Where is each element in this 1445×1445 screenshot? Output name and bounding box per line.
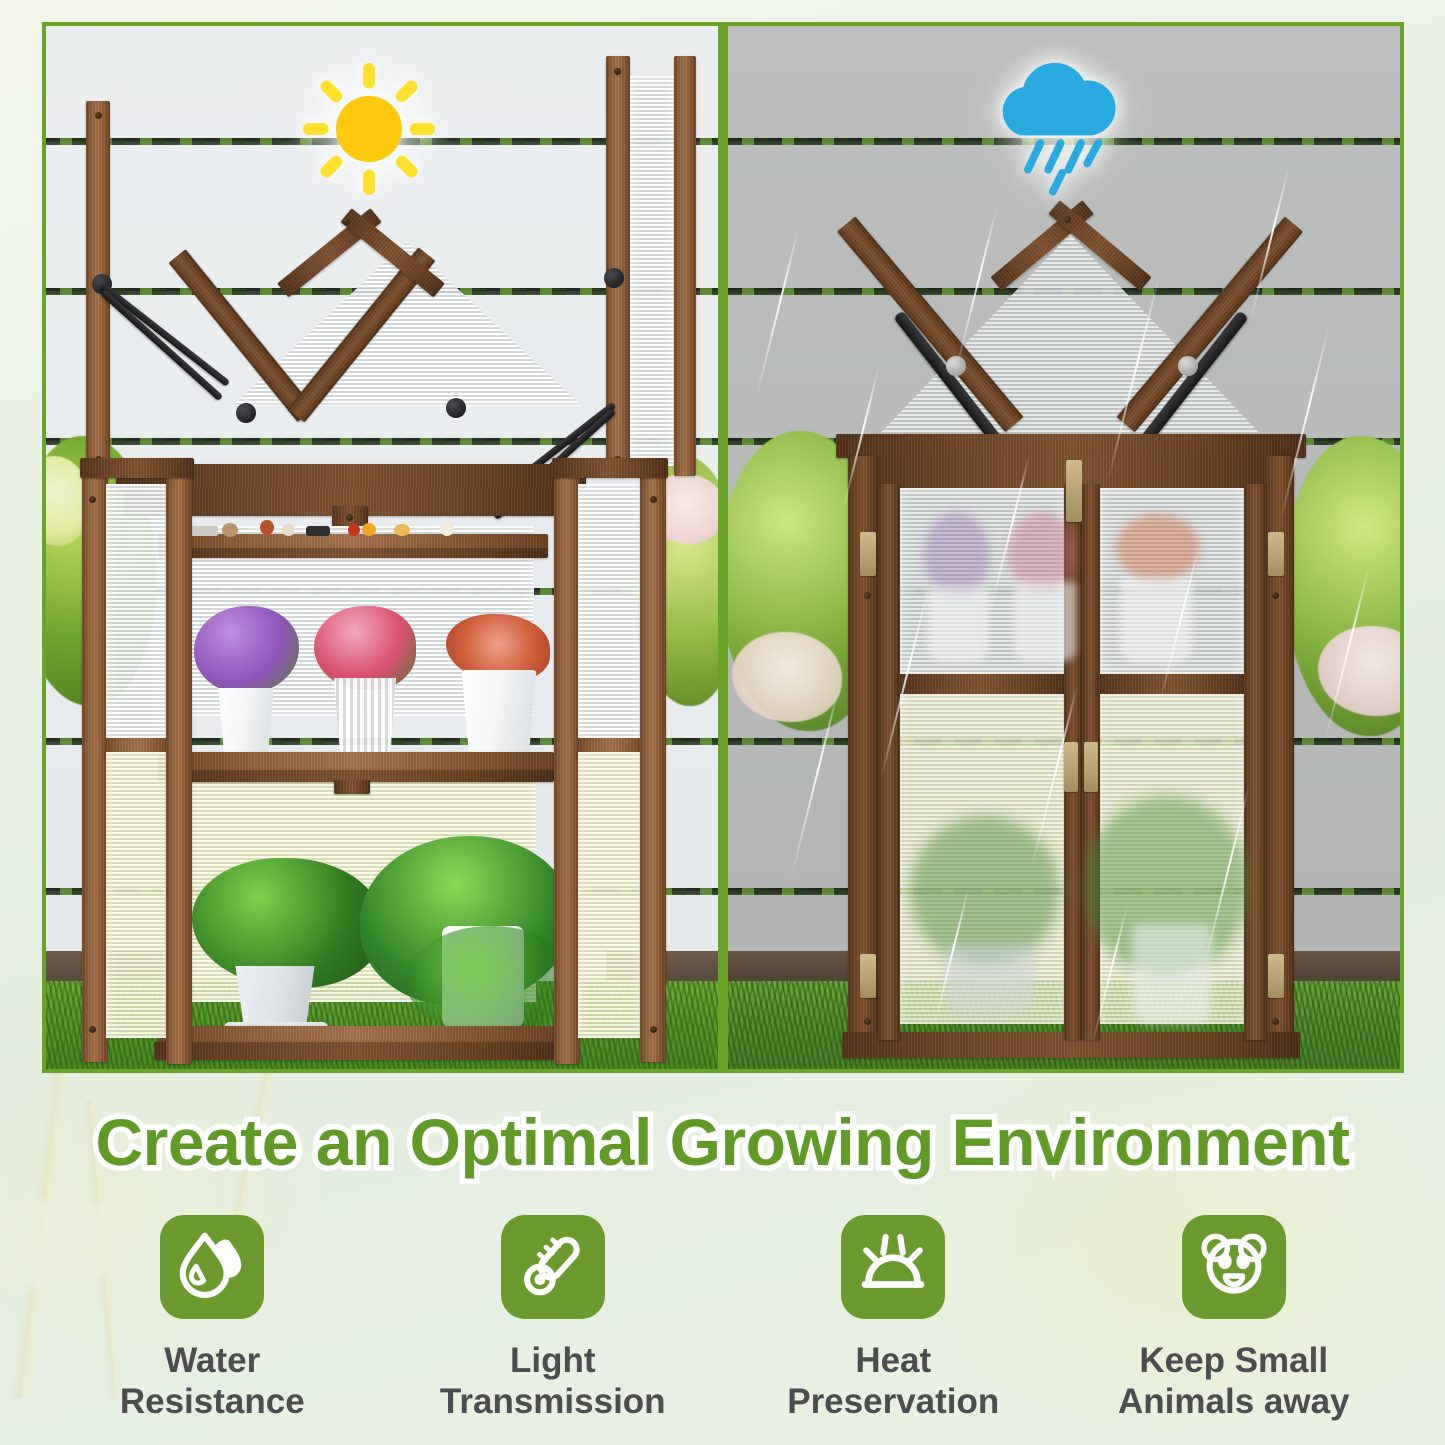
comparison-photo: [42, 22, 1404, 1073]
rain-silhouette-pot-a: [928, 586, 988, 662]
shelf-item-2: [222, 523, 238, 537]
rain-silhouette-succulent: [1116, 514, 1200, 582]
door-right-screw-top: [650, 496, 657, 503]
top-shelf-edge: [158, 548, 548, 558]
rain-door-left-mid-rail: [896, 674, 1068, 694]
door-left-glazing-upper: [106, 484, 168, 742]
feature-heat-preservation: Heat Preservation: [723, 1215, 1064, 1422]
shelf-item-9: [440, 522, 454, 536]
rain-cloud-icon: [978, 48, 1134, 204]
rain-screw-right-upper: [1272, 592, 1279, 599]
door-right-glazing-lower: [578, 752, 642, 1038]
pothos-trailing-vine: [406, 926, 576, 1036]
middle-shelf-bracket: [334, 780, 370, 794]
shelf-item-4: [282, 524, 295, 536]
water-drop-icon-tile: [160, 1215, 264, 1319]
door-left-glazing-lower: [106, 752, 168, 1038]
upper-sash-right-outer-stile: [674, 56, 696, 476]
thermometer-icon-tile: [501, 1215, 605, 1319]
door-right-top-rail: [552, 458, 668, 478]
upper-sash-right-glazing: [630, 76, 676, 466]
rain-silhouette-pot-e: [1132, 924, 1212, 1022]
bear-face-icon: [1195, 1226, 1273, 1309]
product-infographic: Create an Optimal Growing Environment Wa…: [0, 0, 1445, 1445]
rain-door-handle-right: [1084, 742, 1098, 792]
feature-label: Heat Preservation: [787, 1341, 999, 1422]
pot-succulent: [460, 670, 538, 758]
sunrise-icon-tile: [841, 1215, 945, 1319]
middle-shelf: [158, 752, 554, 772]
door-left-screw-bottom: [89, 1026, 96, 1033]
panel-rainy-closed: [728, 26, 1400, 1069]
pink-flower-foliage: [314, 606, 416, 690]
door-right-outer-stile: [640, 466, 666, 1062]
shelf-item-6: [348, 524, 360, 536]
shelf-item-5: [306, 526, 330, 536]
door-right-screw-bottom: [650, 1026, 657, 1033]
shelf-item-8: [394, 524, 410, 536]
bottom-base-rail: [154, 1042, 562, 1060]
rain-screw-left-lower: [864, 1018, 871, 1025]
rain-hinge-right-top: [1268, 532, 1284, 576]
door-left-inner-stile: [166, 458, 192, 1064]
feature-light-transmission: Light Transmission: [383, 1215, 724, 1422]
pot-pothos-left: [232, 966, 318, 1028]
shelf-item-3: [260, 520, 274, 535]
pot-pink-flowers: [332, 678, 398, 760]
arm-left-knob-bottom: [236, 403, 256, 423]
rain-silhouette-pot-d: [946, 944, 1034, 1014]
rain-roof-apex-screw: [1064, 216, 1071, 223]
rain-door-right-mid-rail: [1096, 674, 1248, 694]
feature-label: Keep Small Animals away: [1118, 1341, 1350, 1422]
rain-screw-left-upper: [864, 592, 871, 599]
arm-right-knob-bottom: [446, 398, 466, 418]
door-right-glazing-upper: [578, 484, 642, 742]
shelf-item-1: [188, 526, 218, 536]
water-drop-icon: [173, 1226, 251, 1309]
feature-list: Water Resistance: [42, 1215, 1404, 1422]
upper-sash-left-screw-top: [95, 112, 102, 119]
shelf-item-7: [362, 523, 376, 536]
arm-right-knob-top: [604, 268, 624, 288]
feature-label: Light Transmission: [440, 1341, 666, 1422]
page-title: Create an Optimal Growing Environment: [0, 1104, 1445, 1180]
rain-silhouette-pot-b: [1014, 582, 1076, 662]
door-left-outer-stile: [82, 466, 108, 1062]
rain-hinge-right-bottom: [1268, 954, 1284, 998]
door-left-screw-top: [89, 496, 96, 503]
door-left-top-rail: [80, 458, 194, 478]
rain-door-right-stile: [1244, 484, 1266, 1040]
pot-purple-flowers: [216, 688, 276, 760]
rain-hinge-left-bottom: [860, 954, 876, 998]
roof-apex-screw: [343, 218, 350, 225]
sunrise-icon: [854, 1226, 932, 1309]
rain-arm-right-knob: [1178, 356, 1198, 376]
latch-screw: [346, 514, 353, 521]
rain-eave-rail: [836, 434, 1306, 458]
rain-door-handle-left: [1064, 742, 1078, 792]
bear-face-icon-tile: [1182, 1215, 1286, 1319]
feature-keep-animals-away: Keep Small Animals away: [1064, 1215, 1405, 1422]
rain-door-left-stile: [878, 484, 900, 1040]
thermometer-icon: [514, 1226, 592, 1309]
panel-sunny-open: [46, 26, 718, 1069]
feature-water-resistance: Water Resistance: [42, 1215, 383, 1422]
door-right-inner-stile: [554, 458, 580, 1064]
rain-hinge-left-top: [860, 532, 876, 576]
sun-icon: [294, 54, 444, 204]
upper-sash-right-screw-top: [614, 68, 621, 75]
rain-screw-right-lower: [1272, 1018, 1279, 1025]
feature-label: Water Resistance: [120, 1341, 305, 1422]
rain-door-latch: [1066, 460, 1082, 522]
